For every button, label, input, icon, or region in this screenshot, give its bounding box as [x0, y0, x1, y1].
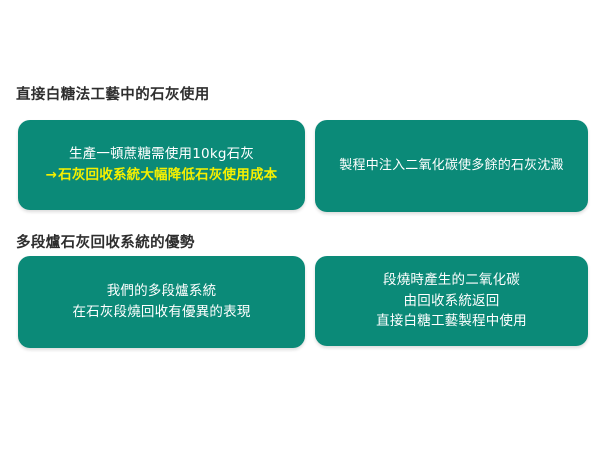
card-line-co2-precipitation: 製程中注入二氧化碳使多餘的石灰沈澱 [339, 156, 563, 176]
slide-canvas: 直接白糖法工藝中的石灰使用 生產一頓蔗糖需使用10kg石灰 →石灰回收系統大幅降… [0, 0, 600, 450]
card-line-lime-calcination-performance: 在石灰段燒回收有優異的表現 [72, 302, 250, 323]
arrow-right-icon: → [46, 165, 58, 186]
card-lime-consumption[interactable]: 生產一頓蔗糖需使用10kg石灰 →石灰回收系統大幅降低石灰使用成本 [18, 120, 305, 210]
card-line-sugar-lime-ratio: 生產一頓蔗糖需使用10kg石灰 [69, 144, 254, 165]
card-line-our-multi-hearth-system: 我們的多段爐系統 [107, 281, 217, 302]
card-line-lime-recovery-cost-text: 石灰回收系統大幅降低石灰使用成本 [58, 167, 277, 183]
card-co2-loop[interactable]: 段燒時產生的二氧化碳 由回收系統返回 直接白糖工藝製程中使用 [315, 256, 588, 346]
card-line-co2-generated: 段燒時產生的二氧化碳 [383, 270, 520, 291]
card-co2-injection[interactable]: 製程中注入二氧化碳使多餘的石灰沈澱 [315, 120, 588, 212]
card-multi-hearth-performance[interactable]: 我們的多段爐系統 在石灰段燒回收有優異的表現 [18, 256, 305, 348]
card-row-advantages: 我們的多段爐系統 在石灰段燒回收有優異的表現 段燒時產生的二氧化碳 由回收系統返… [18, 256, 588, 348]
card-row-lime-usage: 生產一頓蔗糖需使用10kg石灰 →石灰回收系統大幅降低石灰使用成本 製程中注入二… [18, 120, 588, 212]
section-heading-lime-usage: 直接白糖法工藝中的石灰使用 [16, 88, 210, 103]
section-heading-multi-hearth-advantage: 多段爐石灰回收系統的優勢 [16, 236, 195, 251]
card-line-lime-recovery-cost: →石灰回收系統大幅降低石灰使用成本 [46, 165, 278, 186]
card-line-returned-by-recovery: 由回收系統返回 [404, 291, 500, 312]
card-line-used-in-direct-sugar-process: 直接白糖工藝製程中使用 [376, 311, 527, 332]
